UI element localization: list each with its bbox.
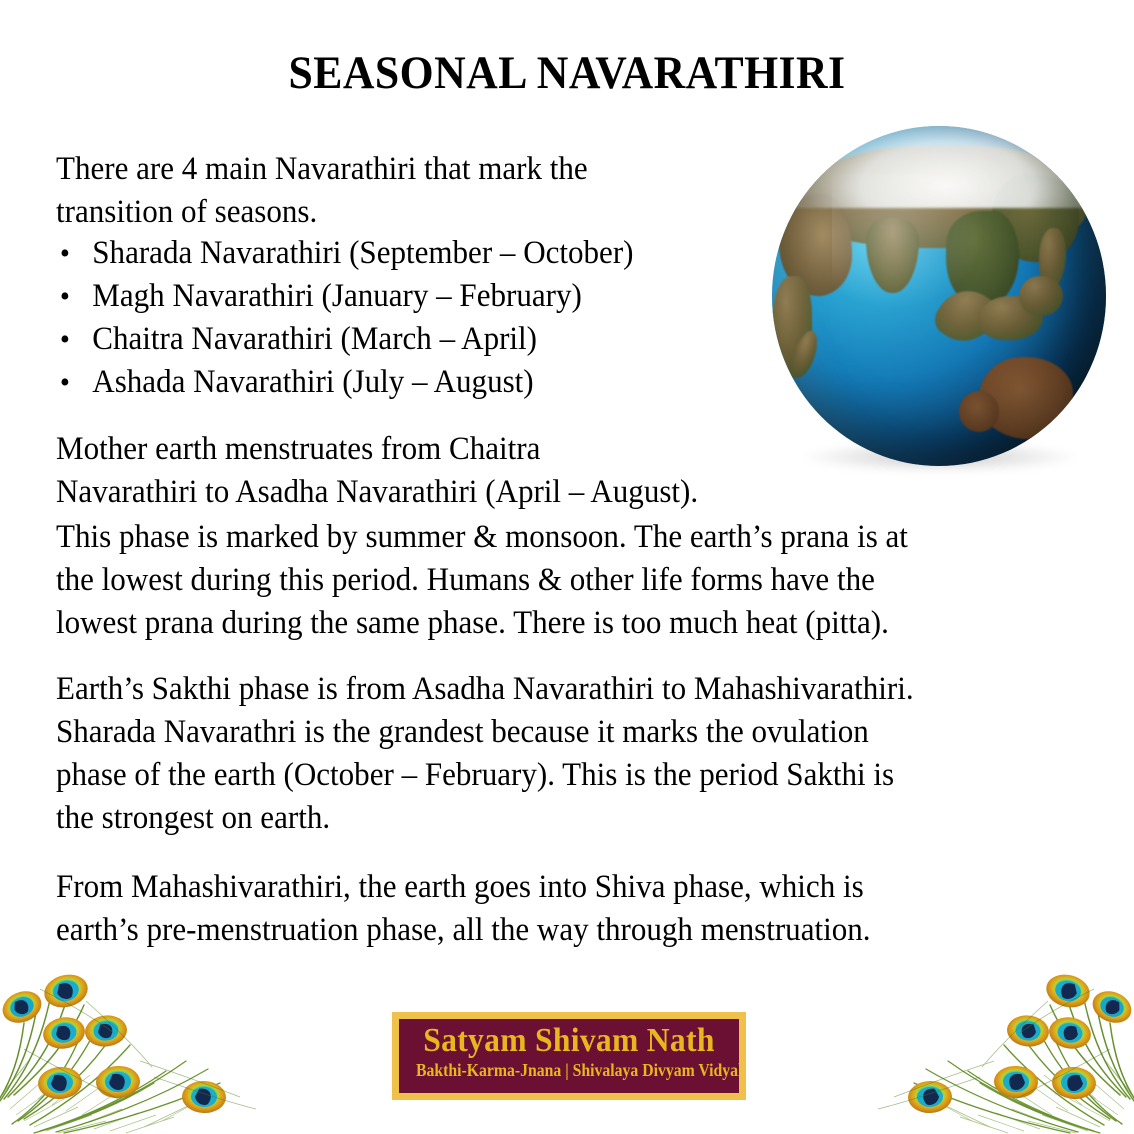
bullet-icon: • <box>60 361 70 404</box>
list-item: • Chaitra Navarathiri (March – April) <box>56 318 782 361</box>
sakthi-line-1: Earth’s Sakthi phase is from Asadha Nava… <box>56 668 1092 711</box>
intro-paragraph: There are 4 main Navarathiri that mark t… <box>56 148 782 234</box>
phase-line-3: lowest prana during the same phase. Ther… <box>56 602 1092 645</box>
list-item: • Magh Navarathiri (January – February) <box>56 275 782 318</box>
earth-globe-image <box>772 122 1108 472</box>
sakthi-paragraph: Earth’s Sakthi phase is from Asadha Nava… <box>56 668 1092 840</box>
intro-line-2: transition of seasons. <box>56 191 782 234</box>
phase-paragraph: This phase is marked by summer & monsoon… <box>56 516 1092 645</box>
mother-earth-line-2: Navarathiri to Asadha Navarathiri (April… <box>56 471 782 514</box>
navarathiri-list: • Sharada Navarathiri (September – Octob… <box>56 232 782 404</box>
slide-canvas: SEASONAL NAVARATHIRI There are 4 main Na… <box>0 0 1134 1134</box>
peacock-feathers-left <box>0 949 294 1134</box>
logo-banner: Satyam Shivam Nath Bakthi-Karma-Jnana | … <box>392 1012 746 1100</box>
list-item-label: Ashada Navarathiri (July – August) <box>92 364 533 400</box>
peacock-feather-group-icon <box>0 949 294 1134</box>
peacock-eye-icon <box>0 970 227 1114</box>
bullet-icon: • <box>60 275 70 318</box>
page-title: SEASONAL NAVARATHIRI <box>40 48 1095 100</box>
globe-terminator-shading <box>772 126 1106 466</box>
mother-earth-line-1: Mother earth menstruates from Chaitra <box>56 428 782 471</box>
logo-subtitle: Bakthi-Karma-Jnana | Shivalaya Divyam Vi… <box>416 1060 722 1081</box>
bullet-icon: • <box>60 232 70 275</box>
shiva-phase-paragraph: From Mahashivarathiri, the earth goes in… <box>56 866 1092 952</box>
phase-line-2: the lowest during this period. Humans & … <box>56 559 1092 602</box>
intro-line-1: There are 4 main Navarathiri that mark t… <box>56 148 782 191</box>
sakthi-line-2: Sharada Navarathri is the grandest becau… <box>56 711 1092 754</box>
peacock-eye-icon <box>907 970 1134 1114</box>
list-item: • Ashada Navarathiri (July – August) <box>56 361 782 404</box>
list-item: • Sharada Navarathiri (September – Octob… <box>56 232 782 275</box>
phase-line-1: This phase is marked by summer & monsoon… <box>56 516 1092 559</box>
sakthi-line-3: phase of the earth (October – February).… <box>56 754 1092 797</box>
bullet-icon: • <box>60 318 70 361</box>
mother-earth-paragraph: Mother earth menstruates from Chaitra Na… <box>56 428 782 514</box>
peacock-feather-group-icon <box>840 949 1134 1134</box>
sakthi-line-4: the strongest on earth. <box>56 797 1092 840</box>
list-item-label: Chaitra Navarathiri (March – April) <box>92 321 537 357</box>
globe-sphere <box>772 126 1106 466</box>
list-item-label: Magh Navarathiri (January – February) <box>92 278 582 314</box>
shiva-phase-line-2: earth’s pre-menstruation phase, all the … <box>56 909 1092 952</box>
peacock-feathers-right <box>840 949 1134 1134</box>
list-item-label: Sharada Navarathiri (September – October… <box>92 235 633 271</box>
logo-title: Satyam Shivam Nath <box>411 1022 727 1060</box>
shiva-phase-line-1: From Mahashivarathiri, the earth goes in… <box>56 866 1092 909</box>
